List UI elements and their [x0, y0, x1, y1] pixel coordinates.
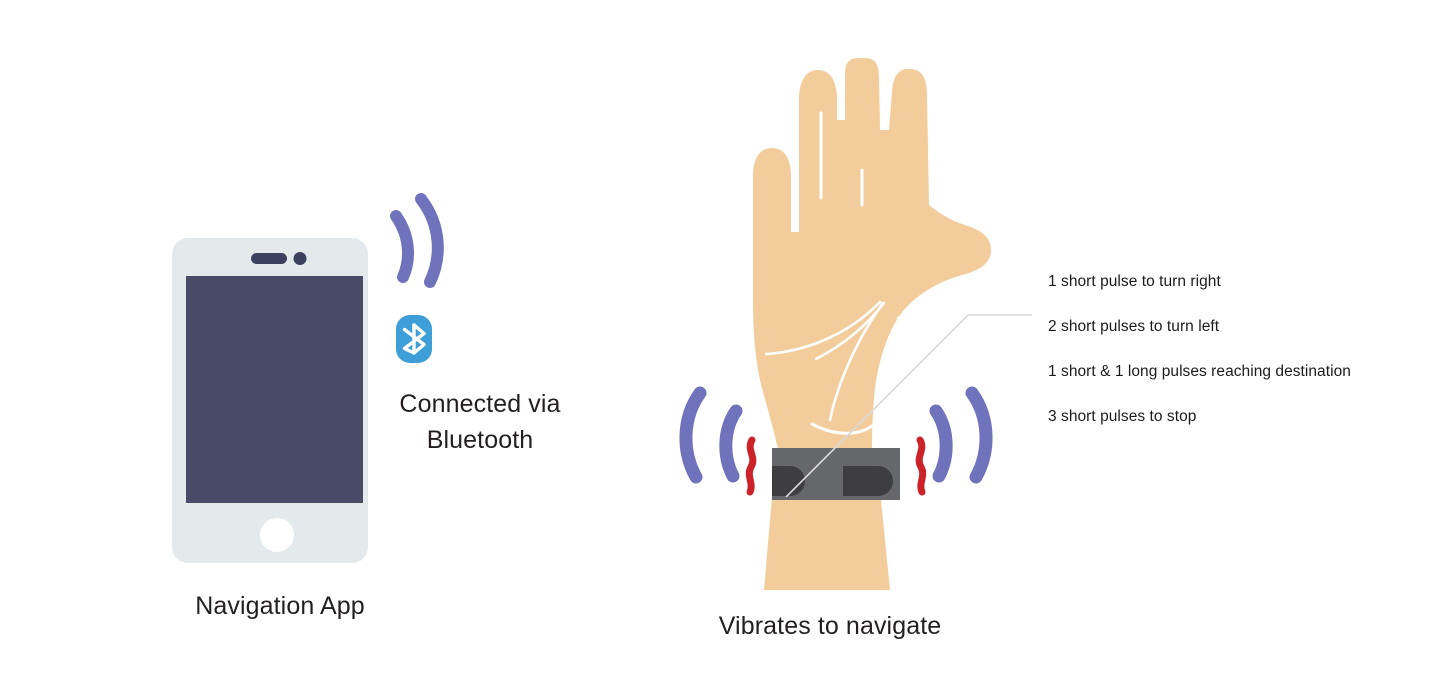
hand-silhouette	[753, 58, 991, 452]
open-hand-icon	[753, 58, 991, 590]
bluetooth-caption-line1: Connected via	[399, 390, 560, 418]
vib-left-arc-outer	[686, 393, 700, 477]
home-button-icon[interactable]	[260, 518, 294, 552]
legend-item: 3 short pulses to stop	[1048, 407, 1358, 427]
signal-arc-inner	[396, 216, 408, 277]
front-camera-icon	[294, 252, 307, 265]
legend-item: 2 short pulses to turn left	[1048, 317, 1358, 337]
wristband-module	[843, 466, 893, 496]
speaker-slot-icon	[251, 253, 287, 264]
legend-item: 1 short & 1 long pulses reaching destina…	[1048, 362, 1358, 382]
bluetooth-caption-line2: Bluetooth	[427, 426, 534, 454]
vibration-waves-left-icon	[686, 393, 753, 492]
phone-screen[interactable]	[186, 276, 363, 503]
vib-left-arc-inner	[726, 411, 736, 476]
vib-right-squiggle	[919, 440, 923, 492]
bluetooth-icon[interactable]	[396, 315, 432, 363]
signal-arc-outer	[421, 199, 438, 282]
vib-right-arc-outer	[972, 393, 986, 477]
wireless-signal-icon	[396, 199, 438, 282]
wristband-left-clasp	[772, 466, 805, 496]
vib-left-squiggle	[749, 440, 753, 492]
phone-caption: Navigation App	[100, 592, 460, 621]
vib-right-arc-inner	[936, 411, 946, 476]
vibration-waves-right-icon	[919, 393, 986, 492]
pulse-legend-list: 1 short pulse to turn right 2 short puls…	[1048, 272, 1358, 427]
bluetooth-caption: Connected via Bluetooth	[360, 386, 600, 458]
phone-illustration	[172, 238, 368, 563]
legend-item: 1 short pulse to turn right	[1048, 272, 1358, 292]
hand-caption: Vibrates to navigate	[660, 612, 1000, 641]
